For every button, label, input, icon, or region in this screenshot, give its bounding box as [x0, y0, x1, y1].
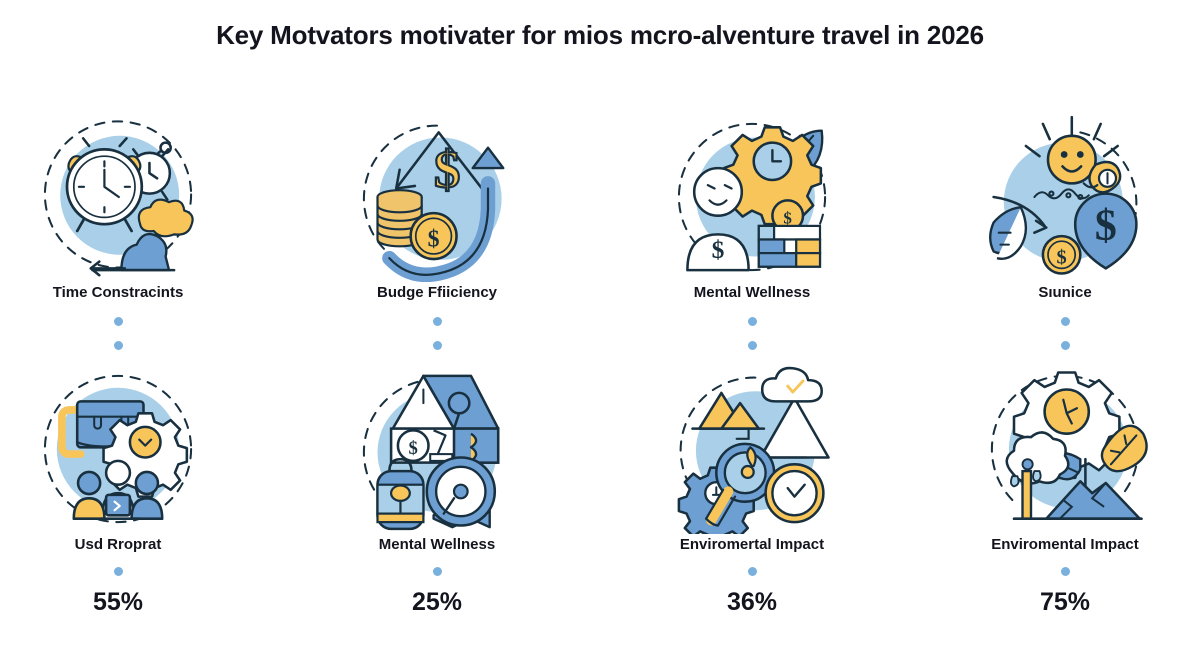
- connector-dot: [748, 567, 757, 576]
- svg-text:$: $: [434, 141, 460, 199]
- connector-dot: [748, 317, 757, 326]
- percentage-value: 25%: [412, 588, 462, 617]
- mountain-magnifier-clock-icon: [667, 364, 837, 534]
- svg-text:$: $: [1095, 201, 1117, 250]
- connector-dot: [433, 341, 442, 350]
- svg-text:$: $: [428, 226, 440, 252]
- alarm-clock-time-icon: [33, 112, 203, 282]
- connector-dots: [1061, 301, 1070, 350]
- percentage-value: 36%: [727, 588, 777, 617]
- connector-dot: [748, 341, 757, 350]
- connector-dot: [1061, 317, 1070, 326]
- person-gear-leaf-chart-icon: $ $: [667, 112, 837, 282]
- page-title: Key Motvators motivater for mios mcro-al…: [0, 20, 1200, 51]
- connector-dots: [748, 301, 757, 350]
- connector-dot: [1061, 341, 1070, 350]
- connector-dot: [114, 567, 123, 576]
- connector-dot: [114, 341, 123, 350]
- gear-tree-leaf-mountain-icon: [980, 364, 1150, 534]
- tent-backpack-compass-icon: $: [352, 364, 522, 534]
- connector-dots: [433, 301, 442, 350]
- value-connector-dots: [1061, 553, 1070, 576]
- connector-dot: [433, 567, 442, 576]
- svg-text:$: $: [1056, 246, 1066, 268]
- value-connector-dots: [748, 553, 757, 576]
- value-connector-dots: [433, 553, 442, 576]
- connector-dot: [433, 317, 442, 326]
- svg-text:$: $: [409, 438, 418, 459]
- node-label-bottom: Enviromental Impact: [991, 536, 1139, 553]
- node-label-bottom: Usd Rroprat: [75, 536, 162, 553]
- node-label-top: Sıunice: [1038, 284, 1091, 301]
- column-0: Time Constracints: [0, 112, 268, 617]
- sun-smile-dollar-pin-icon: $ $: [980, 112, 1150, 282]
- node-label-bottom: Enviromertal Impact: [680, 536, 824, 553]
- svg-text:$: $: [783, 208, 792, 227]
- infographic-canvas: Key Motvators motivater for mios mcro-al…: [0, 0, 1200, 654]
- svg-text:$: $: [712, 235, 725, 264]
- money-growth-arrow-icon: $ $: [352, 112, 522, 282]
- connector-dot: [114, 317, 123, 326]
- percentage-value: 75%: [1040, 588, 1090, 617]
- column-2: $ $ Mental Wellness: [602, 112, 902, 617]
- connector-dot: [1061, 567, 1070, 576]
- node-label-top: Mental Wellness: [694, 284, 810, 301]
- connector-dots: [114, 301, 123, 350]
- briefcase-gear-team-icon: [33, 364, 203, 534]
- node-label-top: Time Constracints: [53, 284, 184, 301]
- value-connector-dots: [114, 553, 123, 576]
- node-label-top: Budge Ffiiciency: [377, 284, 497, 301]
- column-1: $ $ Budge Ffiiciency: [287, 112, 587, 617]
- node-label-bottom: Mental Wellness: [379, 536, 495, 553]
- percentage-value: 55%: [93, 588, 143, 617]
- column-3: $ $ Sıunice: [915, 112, 1200, 617]
